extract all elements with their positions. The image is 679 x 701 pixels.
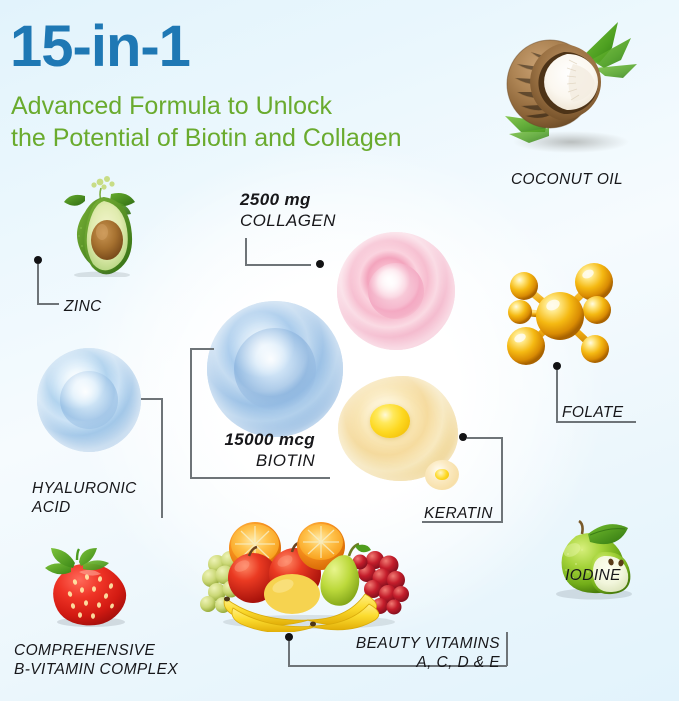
zinc-connector-dot <box>34 256 42 264</box>
biotin-connector-line-vertical <box>190 348 192 478</box>
collagen-connector-line-horizontal <box>245 264 311 266</box>
biotin-label: 15000 mcg BIOTIN <box>180 429 315 472</box>
zinc-connector-line-vertical <box>37 264 39 304</box>
keratin-connector-line-horizontal <box>467 437 503 439</box>
coconut-oil-label: COCONUT OIL <box>487 170 647 189</box>
hyaluronic-acid-connector-line-vertical <box>161 398 163 518</box>
beauty-vitamins-label-line-2: A, C, D & E <box>300 653 500 672</box>
folate-connector-line-vertical <box>556 370 558 422</box>
avocado-icon <box>55 172 150 277</box>
hyaluronic-acid-label-line-1: HYALURONIC <box>32 479 137 498</box>
collagen-name: COLLAGEN <box>240 210 336 231</box>
biotin-connector-line-top <box>190 348 214 350</box>
coconut-icon <box>487 16 647 166</box>
collagen-label: 2500 mg COLLAGEN <box>240 189 336 232</box>
hyaluronic-acid-label: HYALURONIC ACID <box>32 479 137 518</box>
b-vitamin-complex-label-line-1: COMPREHENSIVE <box>14 641 178 660</box>
page-subtitle-line-2: the Potential of Biotin and Collagen <box>11 122 402 154</box>
folate-label: FOLATE <box>562 403 624 422</box>
page-subtitle-line-1: Advanced Formula to Unlock <box>11 90 402 122</box>
strawberry-icon <box>33 548 143 630</box>
b-vitamin-complex-label: COMPREHENSIVE B-VITAMIN COMPLEX <box>14 641 178 680</box>
iodine-label: IODINE <box>528 566 658 585</box>
keratin-core-small <box>435 469 449 480</box>
keratin-gel-blob-small-icon <box>425 460 459 490</box>
beauty-vitamins-connector-line-right <box>506 632 508 666</box>
zinc-connector-line-horizontal <box>37 303 59 305</box>
keratin-core <box>370 404 410 438</box>
beauty-vitamins-connector-line-left <box>288 641 290 666</box>
collagen-connector-line-vertical <box>245 238 247 265</box>
blue-gel-sphere-small-icon <box>37 348 141 452</box>
zinc-label: ZINC <box>64 297 102 316</box>
folate-connector-dot <box>553 362 561 370</box>
collagen-connector-dot <box>316 260 324 268</box>
collagen-amount: 2500 mg <box>240 189 336 210</box>
blue-gel-sphere-large-icon <box>207 301 343 437</box>
hyaluronic-acid-connector-line-horizontal <box>141 398 163 400</box>
hyaluronic-acid-label-line-2: ACID <box>32 498 137 517</box>
beauty-vitamins-label-line-1: BEAUTY VITAMINS <box>300 634 500 653</box>
keratin-label: KERATIN <box>424 504 493 523</box>
page-subtitle: Advanced Formula to Unlock the Potential… <box>11 90 402 154</box>
green-apple-icon <box>540 520 648 602</box>
biotin-name: BIOTIN <box>180 450 315 471</box>
beauty-vitamins-connector-dot <box>285 633 293 641</box>
biotin-connector-line-bottom <box>190 477 330 479</box>
beauty-vitamins-label: BEAUTY VITAMINS A, C, D & E <box>300 634 500 673</box>
b-vitamin-complex-label-line-2: B-VITAMIN COMPLEX <box>14 660 178 679</box>
keratin-connector-dot <box>459 433 467 441</box>
pink-gel-sphere-icon <box>337 232 455 350</box>
page-title: 15-in-1 <box>10 18 190 76</box>
molecule-icon <box>498 260 628 370</box>
biotin-amount: 15000 mcg <box>180 429 315 450</box>
infographic-canvas: 15-in-1 Advanced Formula to Unlock the P… <box>0 0 679 701</box>
mixed-fruit-icon <box>197 516 417 632</box>
keratin-connector-line-vertical <box>501 437 503 522</box>
